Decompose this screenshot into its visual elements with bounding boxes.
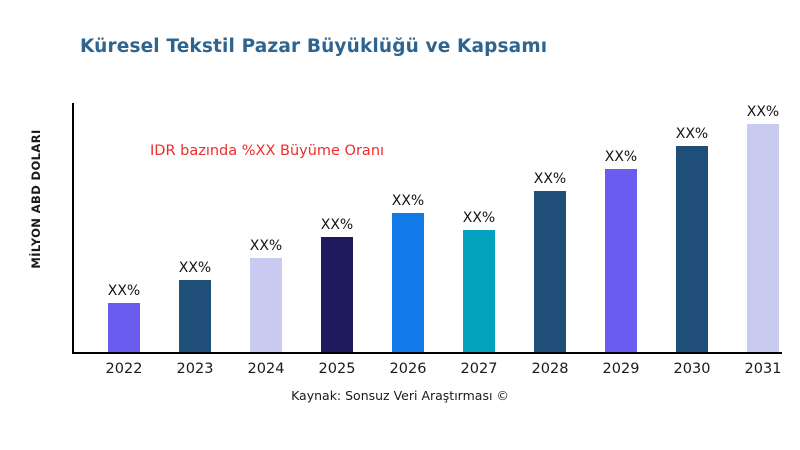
x-tick-label-2026: 2026 <box>372 361 444 377</box>
bar-group: XX%2027 <box>443 103 515 353</box>
bar-value-label: XX% <box>585 149 657 165</box>
bar-value-label: XX% <box>443 210 515 226</box>
bar-value-label: XX% <box>656 126 728 142</box>
x-tick-label-2023: 2023 <box>159 361 231 377</box>
bar-2027[interactable] <box>463 230 495 352</box>
source-caption: Kaynak: Sonsuz Veri Araştırması © <box>0 388 800 403</box>
y-axis-label: MİLYON ABD DOLARI <box>29 89 43 309</box>
bar-value-label: XX% <box>301 217 373 233</box>
bar-2029[interactable] <box>605 169 637 352</box>
bar-group: XX%2030 <box>656 103 728 353</box>
bar-group: XX%2028 <box>514 103 586 353</box>
bar-2026[interactable] <box>392 213 424 352</box>
x-tick-label-2024: 2024 <box>230 361 302 377</box>
bar-2028[interactable] <box>534 191 566 352</box>
bar-group: XX%2024 <box>230 103 302 353</box>
bar-chart: Küresel Tekstil Pazar Büyüklüğü ve Kapsa… <box>0 0 800 450</box>
bar-2031[interactable] <box>747 124 779 352</box>
bar-group: XX%2025 <box>301 103 373 353</box>
bar-group: XX%2029 <box>585 103 657 353</box>
bar-2030[interactable] <box>676 146 708 352</box>
x-tick-label-2027: 2027 <box>443 361 515 377</box>
bar-group: XX%2023 <box>159 103 231 353</box>
y-axis-label-container: MİLYON ABD DOLARI <box>0 0 40 360</box>
bar-2025[interactable] <box>321 237 353 352</box>
bar-value-label: XX% <box>88 283 160 299</box>
plot-area: IDR bazında %XX Büyüme Oranı XX%2022XX%2… <box>72 103 782 353</box>
bar-value-label: XX% <box>230 238 302 254</box>
x-tick-label-2022: 2022 <box>88 361 160 377</box>
bar-group: XX%2026 <box>372 103 444 353</box>
bar-value-label: XX% <box>159 260 231 276</box>
bar-group: XX%2022 <box>88 103 160 353</box>
bar-value-label: XX% <box>514 171 586 187</box>
bar-value-label: XX% <box>372 193 444 209</box>
x-tick-label-2031: 2031 <box>727 361 799 377</box>
bar-2023[interactable] <box>179 280 211 352</box>
bar-group: XX%2031 <box>727 103 799 353</box>
y-axis-line <box>72 103 74 353</box>
x-tick-label-2029: 2029 <box>585 361 657 377</box>
x-tick-label-2025: 2025 <box>301 361 373 377</box>
chart-title: Küresel Tekstil Pazar Büyüklüğü ve Kapsa… <box>80 36 547 57</box>
bar-value-label: XX% <box>727 104 799 120</box>
bar-2022[interactable] <box>108 303 140 352</box>
x-tick-label-2030: 2030 <box>656 361 728 377</box>
x-tick-label-2028: 2028 <box>514 361 586 377</box>
bar-2024[interactable] <box>250 258 282 352</box>
